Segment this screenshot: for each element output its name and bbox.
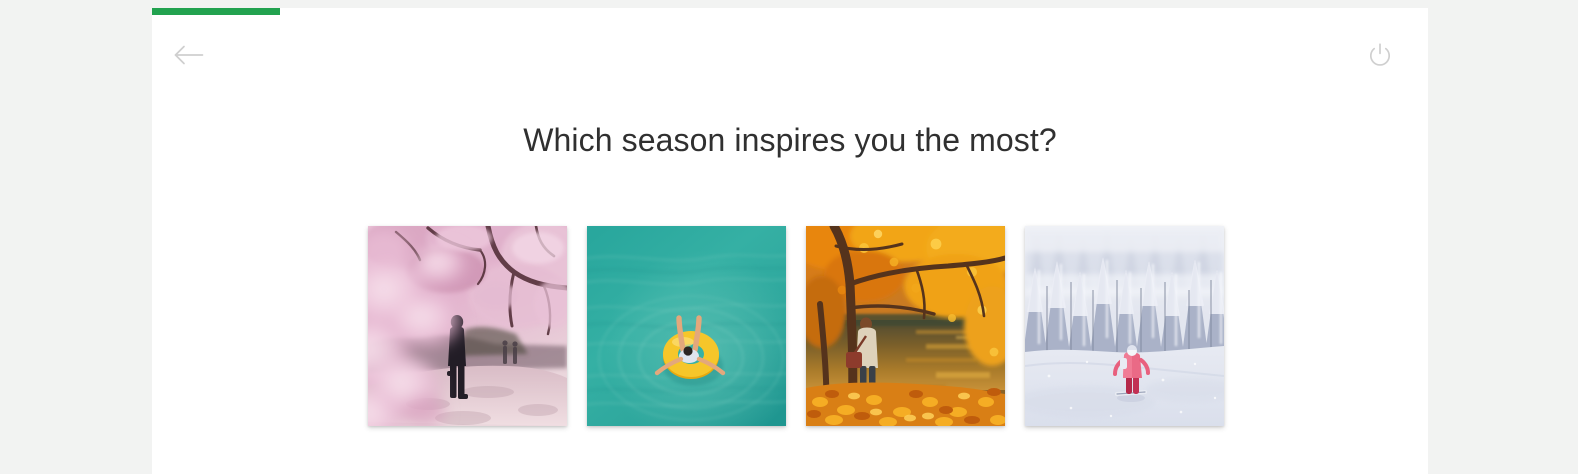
progress-bar-fill [152,8,280,15]
choice-option-spring[interactable]: Spring [368,226,567,426]
choice-list: Spring [368,226,1224,426]
arrow-left-icon [174,44,204,71]
choice-option-winter[interactable]: Winter [1025,226,1224,426]
survey-screen: 10% Back Exit survey Which season inspir… [0,0,1578,474]
choice-option-autumn[interactable]: Autumn [806,226,1005,426]
winter-image [1025,226,1224,426]
choice-option-summer[interactable]: Summer [587,226,786,426]
exit-button[interactable]: Exit survey [1362,40,1398,74]
power-icon [1368,42,1392,73]
back-button[interactable]: Back [170,40,208,74]
progress-bar-track: 10% [152,8,1428,15]
page-title: Which season inspires you the most? [152,122,1428,159]
summer-image [587,226,786,426]
autumn-image [806,226,1005,426]
spring-image [368,226,567,426]
